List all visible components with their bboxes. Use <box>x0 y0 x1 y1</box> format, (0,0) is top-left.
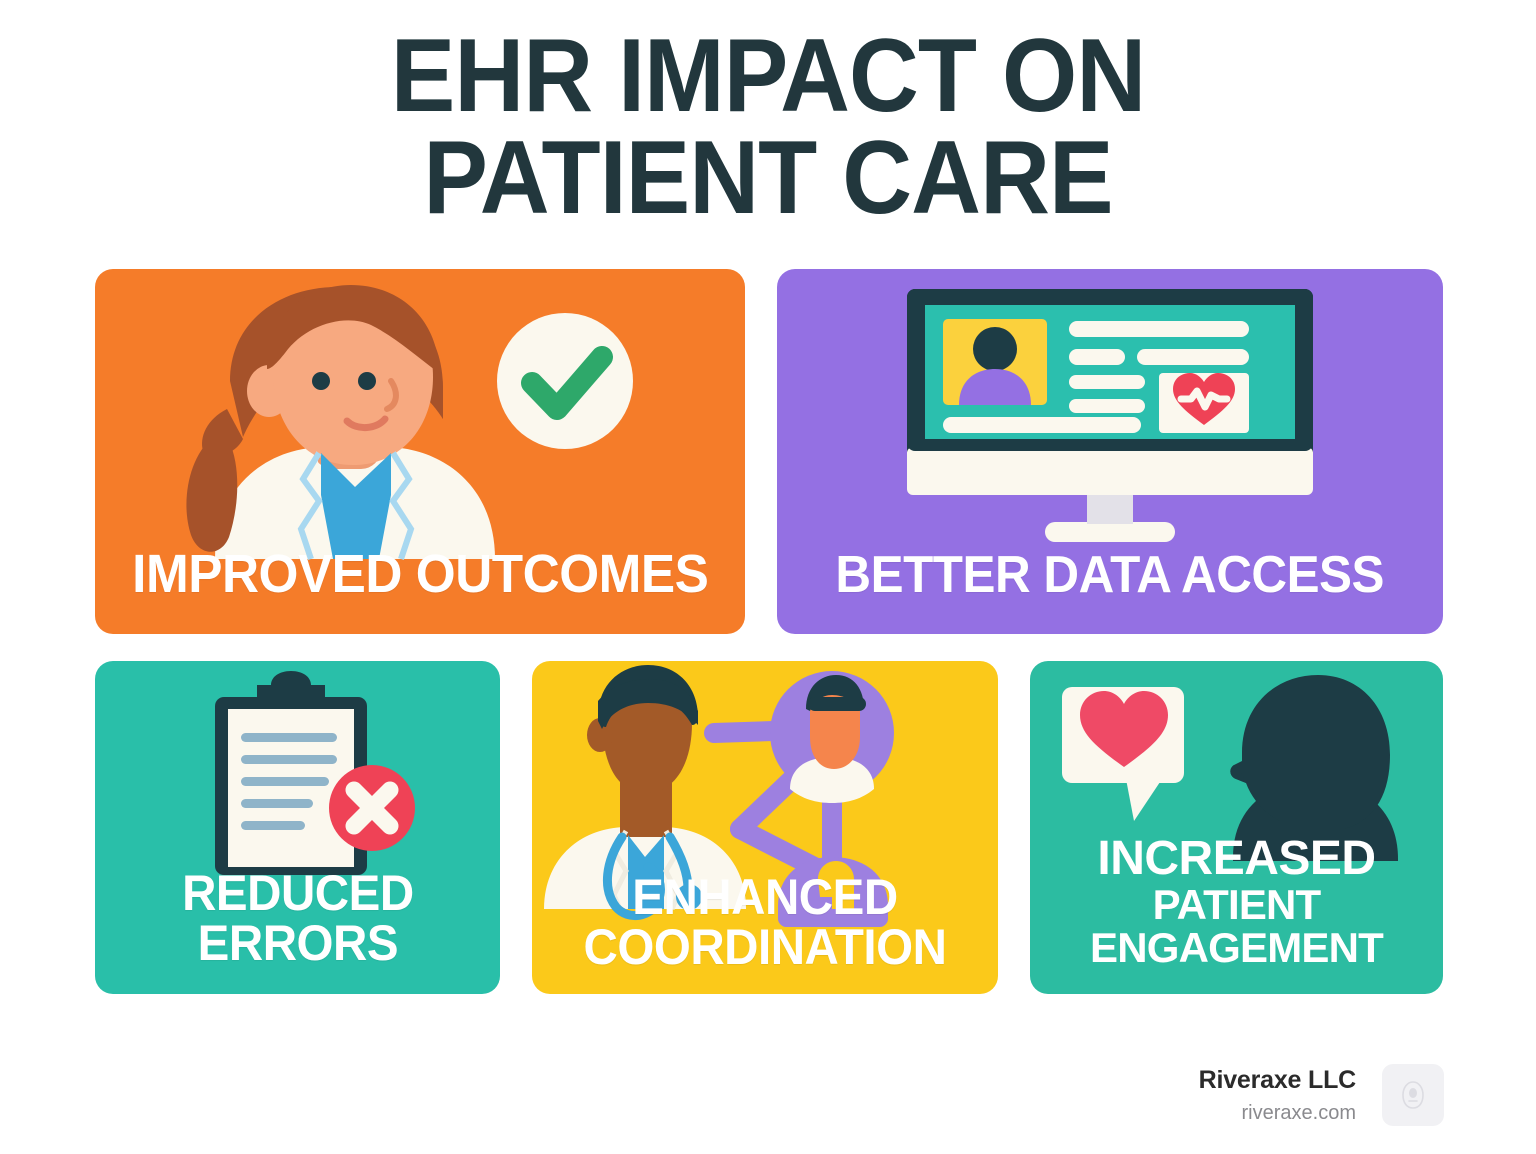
logo-glyph-icon <box>1398 1079 1428 1111</box>
card-enhanced-coordination[interactable]: ENHANCED COORDINATION <box>532 661 998 994</box>
card-label: IMPROVED OUTCOMES <box>132 547 708 634</box>
card-label-group: INCREASED PATIENT ENGAGEMENT <box>1030 835 1443 994</box>
cards-grid: IMPROVED OUTCOMES <box>95 269 1443 994</box>
card-label: REDUCED ERRORS <box>182 868 414 994</box>
card-label: BETTER DATA ACCESS <box>836 549 1385 634</box>
cards-row-2: REDUCED ERRORS <box>95 661 1443 994</box>
brand-domain: riveraxe.com <box>1199 1102 1356 1125</box>
brand-name: Riveraxe LLC <box>1199 1066 1356 1095</box>
card-better-data-access[interactable]: BETTER DATA ACCESS <box>777 269 1443 634</box>
card-reduced-errors[interactable]: REDUCED ERRORS <box>95 661 500 994</box>
footer-text: Riveraxe LLC riveraxe.com <box>1199 1066 1356 1125</box>
card-improved-outcomes[interactable]: IMPROVED OUTCOMES <box>95 269 745 634</box>
footer-branding: Riveraxe LLC riveraxe.com <box>1199 1064 1444 1126</box>
cards-row-1: IMPROVED OUTCOMES <box>95 269 1443 634</box>
card-increased-patient-engagement[interactable]: INCREASED PATIENT ENGAGEMENT <box>1030 661 1443 994</box>
page-title: EHR IMPACT ON PATIENT CARE <box>54 26 1482 230</box>
card-label-line2: PATIENT ENGAGEMENT <box>1030 884 1443 970</box>
card-label-line1: INCREASED <box>1030 835 1443 884</box>
infographic-page: EHR IMPACT ON PATIENT CARE <box>0 0 1536 1154</box>
riveraxe-logo-placeholder <box>1382 1064 1444 1126</box>
card-label: ENHANCED COORDINATION <box>584 872 947 994</box>
